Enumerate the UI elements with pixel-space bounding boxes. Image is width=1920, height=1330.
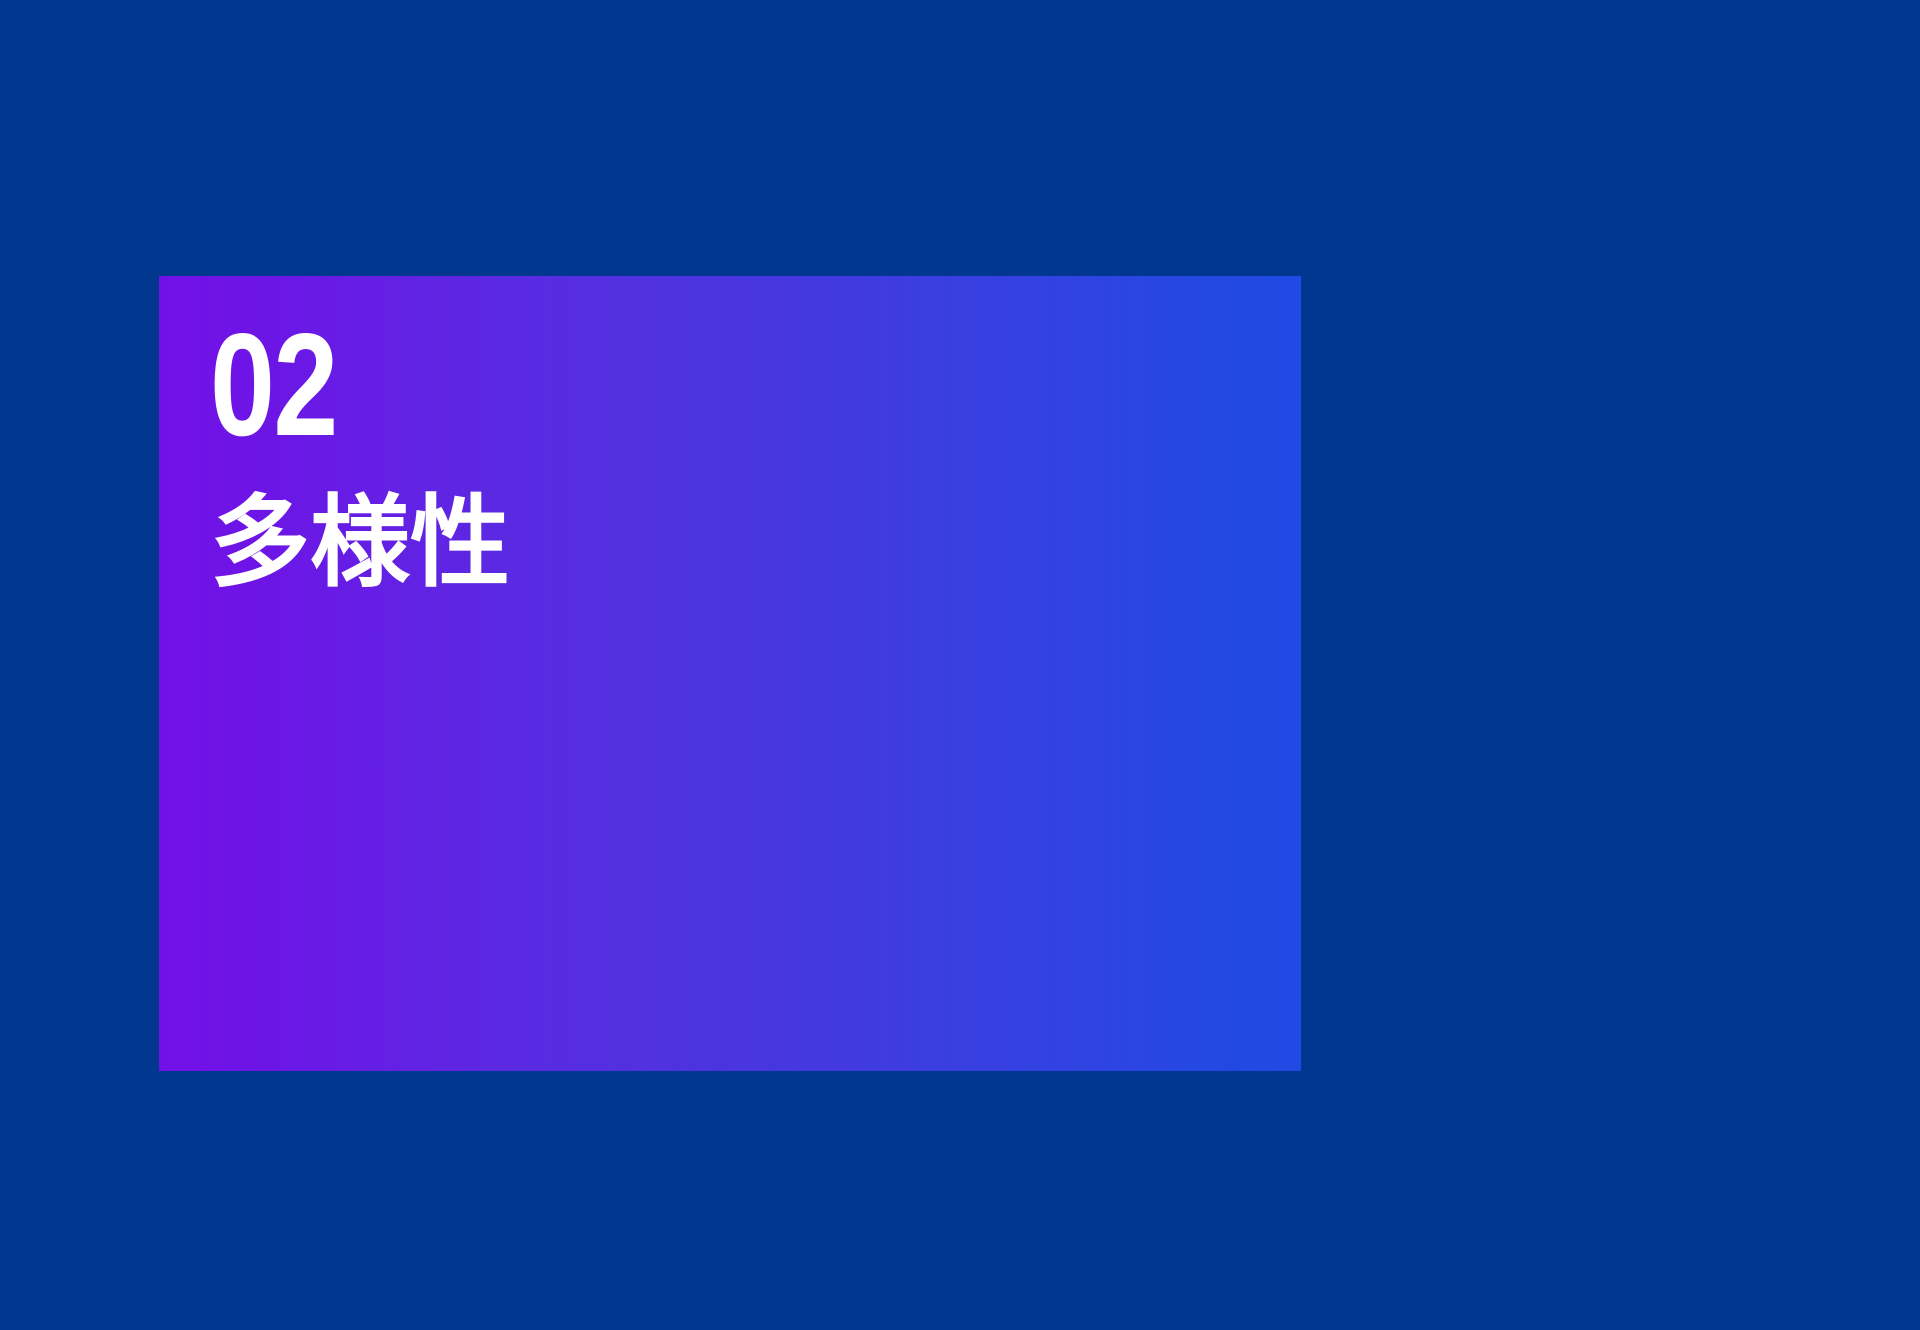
section-title: 多様性 bbox=[210, 493, 1210, 593]
section-divider-panel: 02 多様性 bbox=[159, 276, 1301, 1071]
panel-content-group: 02 多様性 bbox=[210, 312, 1210, 593]
section-number: 02 bbox=[210, 312, 1010, 430]
slide-canvas: 02 多様性 bbox=[0, 0, 1920, 1330]
